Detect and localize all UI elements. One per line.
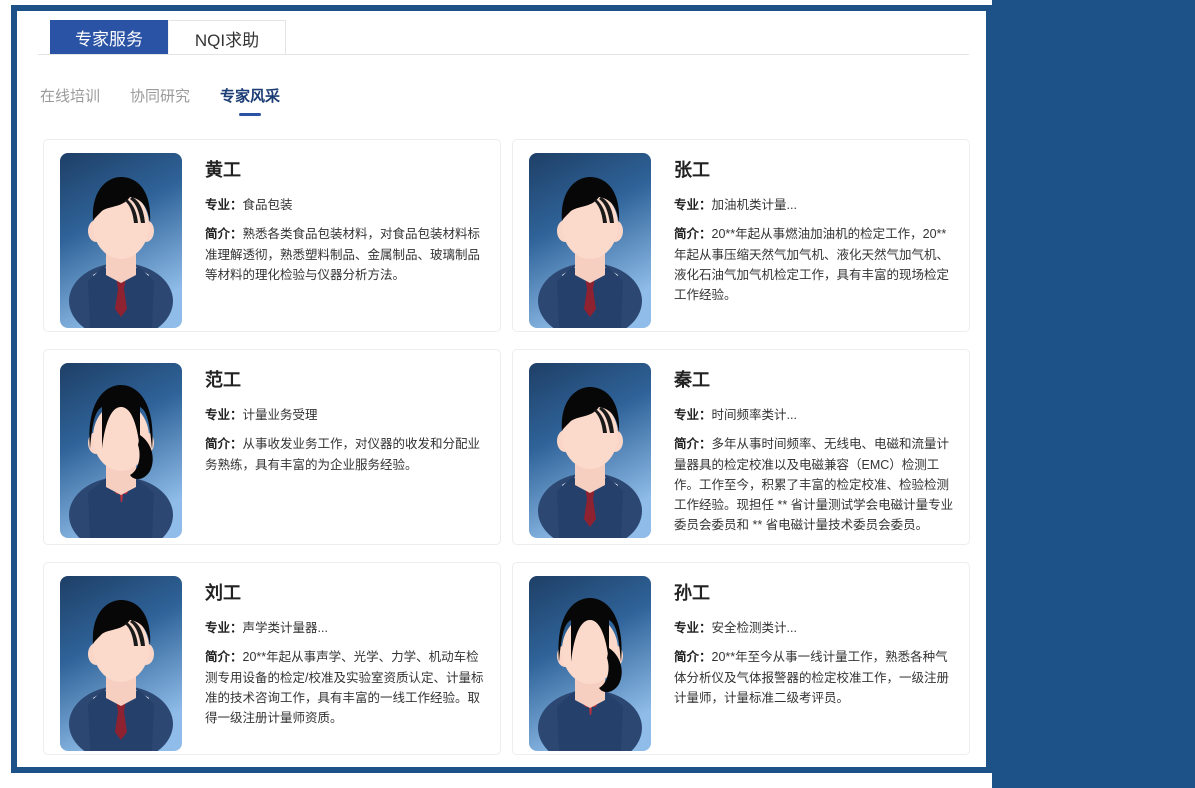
expert-info: 秦工专业：时间频率类计...简介：多年从事时间频率、无线电、电磁和流量计量器具的… bbox=[651, 363, 957, 531]
expert-field: 专业：计量业务受理 bbox=[205, 406, 488, 425]
expert-name: 张工 bbox=[674, 160, 957, 182]
expert-name: 孙工 bbox=[674, 583, 957, 605]
expert-name: 刘工 bbox=[205, 583, 488, 605]
expert-intro: 简介：熟悉各类食品包装材料，对食品包装材料标准理解透彻，熟悉塑料制品、金属制品、… bbox=[205, 224, 488, 285]
field-value: 加油机类计量... bbox=[712, 198, 797, 212]
subnav-item-online-training[interactable]: 在线培训 bbox=[38, 83, 102, 116]
expert-info: 张工专业：加油机类计量...简介：20**年起从事燃油加油机的检定工作，20**… bbox=[651, 153, 957, 318]
expert-info: 范工专业：计量业务受理简介：从事收发业务工作，对仪器的收发和分配业务熟练，具有丰… bbox=[182, 363, 488, 531]
expert-intro: 简介：从事收发业务工作，对仪器的收发和分配业务熟练，具有丰富的为企业服务经验。 bbox=[205, 434, 488, 475]
field-label: 专业： bbox=[674, 198, 712, 212]
avatar bbox=[60, 363, 182, 538]
field-value: 计量业务受理 bbox=[243, 408, 318, 422]
expert-field: 专业：食品包装 bbox=[205, 196, 488, 215]
right-blue-panel: 专家风采 bbox=[992, 0, 1195, 788]
expert-field: 专业：安全检测类计... bbox=[674, 619, 957, 638]
intro-label: 简介： bbox=[674, 650, 712, 664]
intro-value: 20**年至今从事一线计量工作，熟悉各种气体分析仪及气体报警器的检定校准工作，一… bbox=[674, 650, 949, 705]
intro-label: 简介： bbox=[674, 437, 712, 451]
expert-info: 孙工专业：安全检测类计...简介：20**年至今从事一线计量工作，熟悉各种气体分… bbox=[651, 576, 957, 741]
expert-intro: 简介：多年从事时间频率、无线电、电磁和流量计量器具的检定校准以及电磁兼容（EMC… bbox=[674, 434, 957, 535]
field-label: 专业： bbox=[674, 621, 712, 635]
field-label: 专业： bbox=[674, 408, 712, 422]
tab-expert-service[interactable]: 专家服务 bbox=[50, 20, 168, 55]
window-frame: 专家服务 NQI求助 在线培训 协同研究 专家风采 bbox=[11, 11, 992, 773]
expert-field: 专业：加油机类计量... bbox=[674, 196, 957, 215]
expert-intro: 简介：20**年起从事声学、光学、力学、机动车检测专用设备的检定/校准及实验室资… bbox=[205, 647, 488, 728]
subnav-item-expert-showcase[interactable]: 专家风采 bbox=[218, 83, 282, 116]
intro-label: 简介： bbox=[205, 650, 243, 664]
expert-field: 专业：时间频率类计... bbox=[674, 406, 957, 425]
expert-info: 刘工专业：声学类计量器...简介：20**年起从事声学、光学、力学、机动车检测专… bbox=[182, 576, 488, 741]
avatar bbox=[529, 153, 651, 328]
tab-nqi-help[interactable]: NQI求助 bbox=[168, 20, 286, 55]
expert-name: 秦工 bbox=[674, 370, 957, 392]
expert-card[interactable]: 刘工专业：声学类计量器...简介：20**年起从事声学、光学、力学、机动车检测专… bbox=[43, 562, 501, 755]
subnav-item-collaborative-research[interactable]: 协同研究 bbox=[128, 83, 192, 116]
tab-bar: 专家服务 NQI求助 bbox=[17, 11, 969, 55]
field-label: 专业： bbox=[205, 198, 243, 212]
intro-label: 简介： bbox=[205, 227, 243, 241]
field-label: 专业： bbox=[205, 621, 243, 635]
tab-bar-divider bbox=[38, 54, 969, 55]
field-label: 专业： bbox=[205, 408, 243, 422]
field-value: 安全检测类计... bbox=[712, 621, 797, 635]
avatar bbox=[529, 363, 651, 538]
expert-card-grid: 黄工专业：食品包装简介：熟悉各类食品包装材料，对食品包装材料标准理解透彻，熟悉塑… bbox=[43, 139, 970, 755]
expert-card[interactable]: 秦工专业：时间频率类计...简介：多年从事时间频率、无线电、电磁和流量计量器具的… bbox=[512, 349, 970, 545]
intro-label: 简介： bbox=[674, 227, 712, 241]
expert-card[interactable]: 范工专业：计量业务受理简介：从事收发业务工作，对仪器的收发和分配业务熟练，具有丰… bbox=[43, 349, 501, 545]
field-value: 食品包装 bbox=[243, 198, 293, 212]
field-value: 时间频率类计... bbox=[712, 408, 797, 422]
intro-label: 简介： bbox=[205, 437, 243, 451]
intro-value: 熟悉各类食品包装材料，对食品包装材料标准理解透彻，熟悉塑料制品、金属制品、玻璃制… bbox=[205, 227, 480, 282]
expert-intro: 简介：20**年至今从事一线计量工作，熟悉各种气体分析仪及气体报警器的检定校准工… bbox=[674, 647, 957, 708]
avatar bbox=[60, 153, 182, 328]
intro-value: 多年从事时间频率、无线电、电磁和流量计量器具的检定校准以及电磁兼容（EMC）检测… bbox=[674, 437, 953, 532]
expert-intro: 简介：20**年起从事燃油加油机的检定工作，20**年起从事压缩天然气加气机、液… bbox=[674, 224, 957, 305]
intro-value: 20**年起从事声学、光学、力学、机动车检测专用设备的检定/校准及实验室资质认定… bbox=[205, 650, 483, 725]
sub-navigation: 在线培训 协同研究 专家风采 bbox=[38, 83, 282, 117]
expert-name: 黄工 bbox=[205, 160, 488, 182]
expert-card[interactable]: 张工专业：加油机类计量...简介：20**年起从事燃油加油机的检定工作，20**… bbox=[512, 139, 970, 332]
intro-value: 从事收发业务工作，对仪器的收发和分配业务熟练，具有丰富的为企业服务经验。 bbox=[205, 437, 480, 471]
content-area: 专家服务 NQI求助 在线培训 协同研究 专家风采 bbox=[17, 11, 986, 767]
expert-card[interactable]: 孙工专业：安全检测类计...简介：20**年至今从事一线计量工作，熟悉各种气体分… bbox=[512, 562, 970, 755]
intro-value: 20**年起从事燃油加油机的检定工作，20**年起从事压缩天然气加气机、液化天然… bbox=[674, 227, 949, 302]
expert-name: 范工 bbox=[205, 370, 488, 392]
expert-card[interactable]: 黄工专业：食品包装简介：熟悉各类食品包装材料，对食品包装材料标准理解透彻，熟悉塑… bbox=[43, 139, 501, 332]
field-value: 声学类计量器... bbox=[243, 621, 328, 635]
avatar bbox=[529, 576, 651, 751]
expert-field: 专业：声学类计量器... bbox=[205, 619, 488, 638]
avatar bbox=[60, 576, 182, 751]
expert-info: 黄工专业：食品包装简介：熟悉各类食品包装材料，对食品包装材料标准理解透彻，熟悉塑… bbox=[182, 153, 488, 318]
